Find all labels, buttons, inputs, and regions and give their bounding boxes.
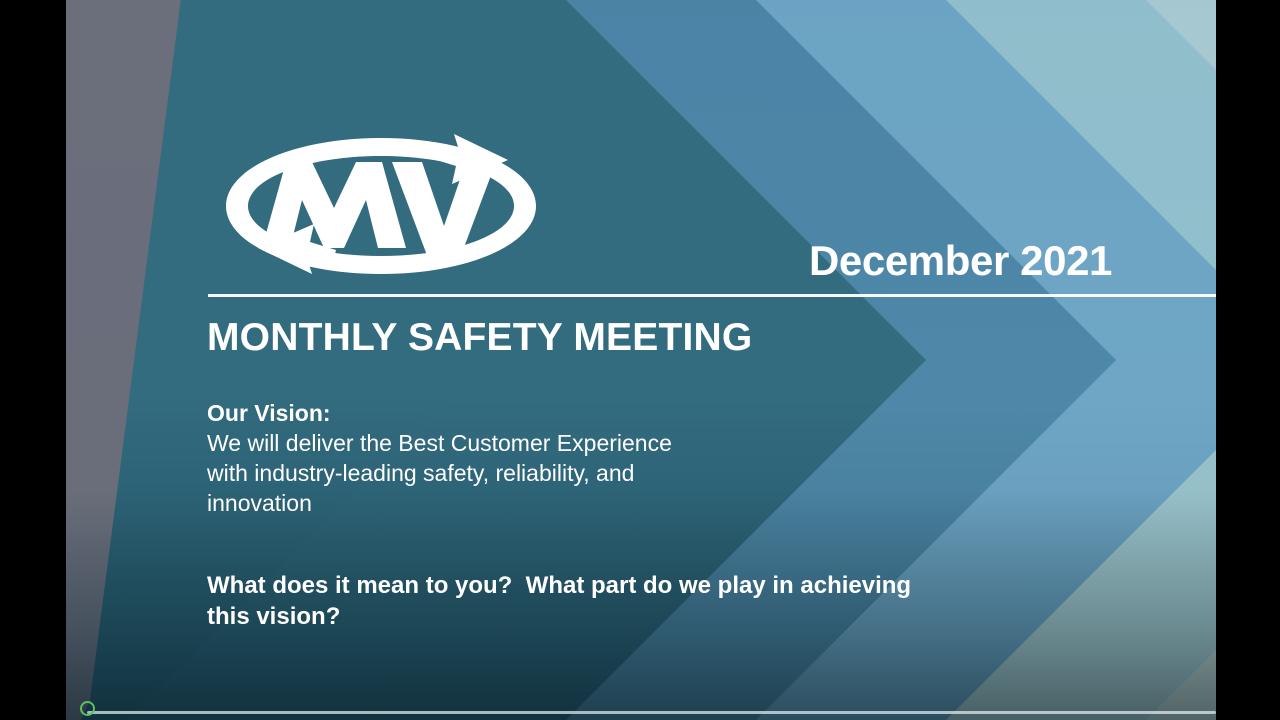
divider-rule (208, 294, 1216, 297)
video-progress-bar[interactable] (66, 711, 1216, 715)
video-frame: December 2021 MONTHLY SAFETY MEETING Our… (0, 0, 1280, 720)
vision-label: Our Vision: (207, 398, 967, 428)
slide-title: MONTHLY SAFETY MEETING (207, 316, 752, 360)
vision-line-1: We will deliver the Best Customer Experi… (207, 428, 967, 458)
question-line-1: What does it mean to you? What part do w… (207, 570, 1157, 601)
vision-line-3: innovation (207, 488, 967, 518)
vision-block: Our Vision: We will deliver the Best Cus… (207, 398, 967, 518)
vision-line-2: with industry-leading safety, reliabilit… (207, 458, 967, 488)
mv-orbit-logo-icon (216, 122, 546, 287)
progress-handle[interactable] (80, 701, 95, 716)
letterbox-bar-left (0, 0, 66, 720)
progress-track[interactable] (87, 711, 1216, 714)
slide-canvas: December 2021 MONTHLY SAFETY MEETING Our… (66, 0, 1216, 720)
slide-date: December 2021 (809, 240, 1112, 282)
letterbox-bar-right (1216, 0, 1280, 720)
question-line-2: this vision? (207, 601, 1157, 632)
question-block: What does it mean to you? What part do w… (207, 570, 1157, 632)
